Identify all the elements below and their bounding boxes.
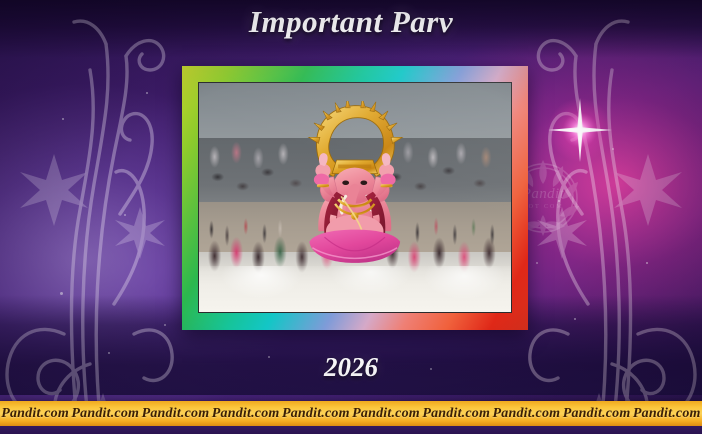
page-title: Important Parv bbox=[0, 4, 702, 40]
year-label: 2026 bbox=[0, 352, 702, 383]
photo-scene bbox=[199, 83, 511, 312]
photo-frame bbox=[182, 66, 528, 330]
ribbon-brand-text: Pandit.com bbox=[282, 406, 350, 422]
poster-canvas: Pandit DOT COM Important Parv bbox=[0, 0, 702, 434]
ribbon-brand-text: Pandit.com bbox=[142, 406, 210, 422]
ribbon-under-strip bbox=[0, 426, 702, 434]
ribbon-brand-text: Pandit.com bbox=[563, 406, 631, 422]
ribbon-brand-text: Pandit.com bbox=[493, 406, 561, 422]
ribbon-brand-text: Pandit.com bbox=[212, 406, 280, 422]
ribbon-brand-text: Pandit.com bbox=[422, 406, 490, 422]
ribbon-brand-text: Pandit.com bbox=[352, 406, 420, 422]
ganesha-idol-icon bbox=[283, 101, 427, 275]
branding-ribbon: Pandit.comPandit.comPandit.comPandit.com… bbox=[0, 401, 702, 426]
ribbon-brand-text: Pandit.com bbox=[633, 406, 701, 422]
ribbon-brand-text: Pandit.com bbox=[71, 406, 139, 422]
ganesha-visarjan-photo bbox=[198, 82, 512, 313]
ribbon-brand-text: Pandit.com bbox=[1, 406, 69, 422]
